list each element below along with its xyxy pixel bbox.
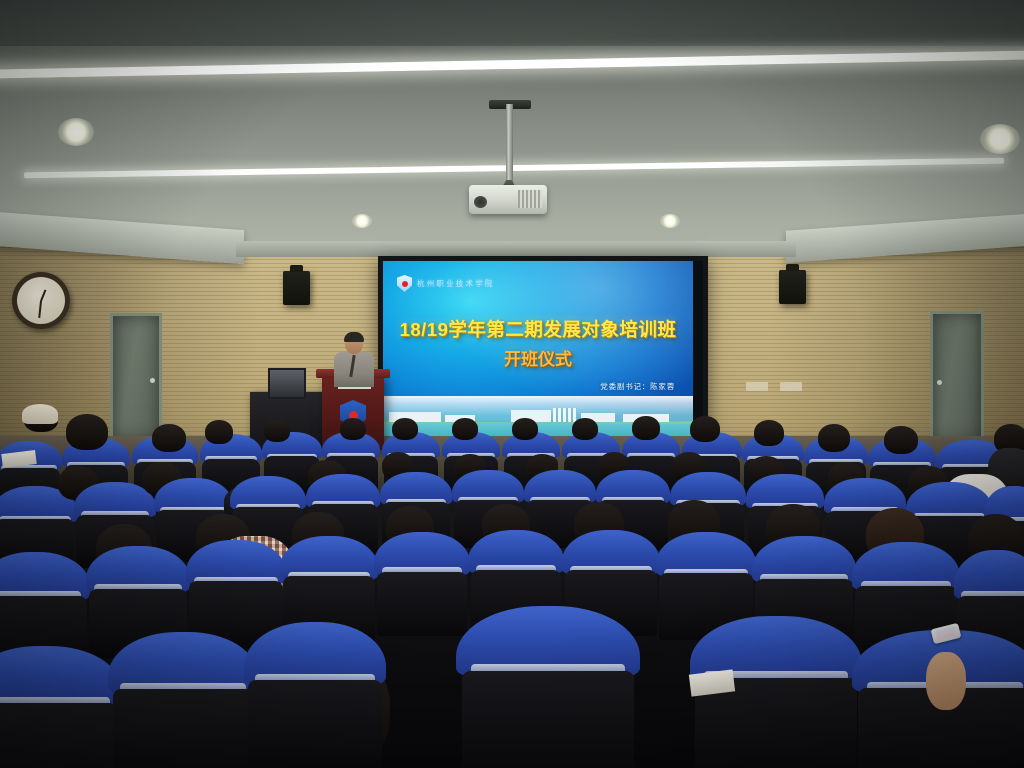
av-monitor (268, 368, 306, 399)
door-knob-right (937, 380, 942, 385)
speaker-bracket-right (786, 264, 799, 271)
attendee-head (572, 418, 598, 440)
clock-hour-hand (40, 289, 46, 301)
projector-lens-icon (474, 196, 487, 208)
attendee-head (452, 418, 478, 440)
seat (0, 646, 122, 768)
attendee-head (66, 414, 108, 450)
slide-title: 18/19学年第二期发展对象培训班 (383, 316, 693, 342)
downlight-3 (352, 214, 372, 228)
attendee-head (818, 424, 850, 452)
attendee-head (754, 420, 784, 446)
wall-speaker-right (779, 270, 806, 304)
attendee-head (340, 418, 366, 440)
attendee-head (632, 416, 660, 440)
downlight-4 (660, 214, 680, 228)
wall-valance-center (236, 241, 796, 257)
downlight-2 (980, 124, 1020, 154)
attendee-head (264, 420, 290, 442)
ceiling-dark-band (0, 0, 1024, 46)
slide-logo-text: 杭州职业技术学院 (417, 278, 495, 289)
auditorium-photo: 杭州职业技术学院 18/19学年第二期发展对象培训班 开班仪式 党委副书记：陈家… (0, 0, 1024, 768)
slide-byline: 党委副书记：陈家蓉 (600, 381, 675, 392)
projector-mount-rod (506, 104, 513, 190)
seat (244, 622, 386, 768)
seat (456, 606, 640, 768)
attendee-head (512, 418, 538, 440)
downlight-1 (58, 118, 94, 146)
attendee-head (205, 420, 233, 444)
strip-light-2 (24, 158, 1004, 179)
presenter (334, 333, 374, 385)
speaker-bracket-left (290, 265, 303, 272)
strip-light-1 (0, 50, 1024, 78)
slide-subtitle: 开班仪式 (383, 345, 693, 370)
presenter-hair (344, 332, 364, 342)
school-crest-icon (397, 275, 412, 292)
attendee-head (152, 424, 186, 452)
attendee-head (392, 418, 418, 440)
wall-clock-icon (12, 272, 70, 329)
attendee-hand (926, 652, 966, 710)
wall-outlet-1 (746, 382, 768, 391)
projector-vent (518, 190, 542, 208)
white-cap-attendee (22, 404, 58, 424)
door-knob-left (150, 378, 155, 383)
slide-logo: 杭州职业技术学院 (397, 275, 495, 292)
wall-outlet-2 (780, 382, 802, 391)
clock-minute-hand (38, 300, 42, 317)
attendee-head (690, 416, 720, 442)
wall-speaker-left (283, 271, 310, 305)
attendee-head (884, 426, 918, 454)
seat (108, 632, 258, 768)
